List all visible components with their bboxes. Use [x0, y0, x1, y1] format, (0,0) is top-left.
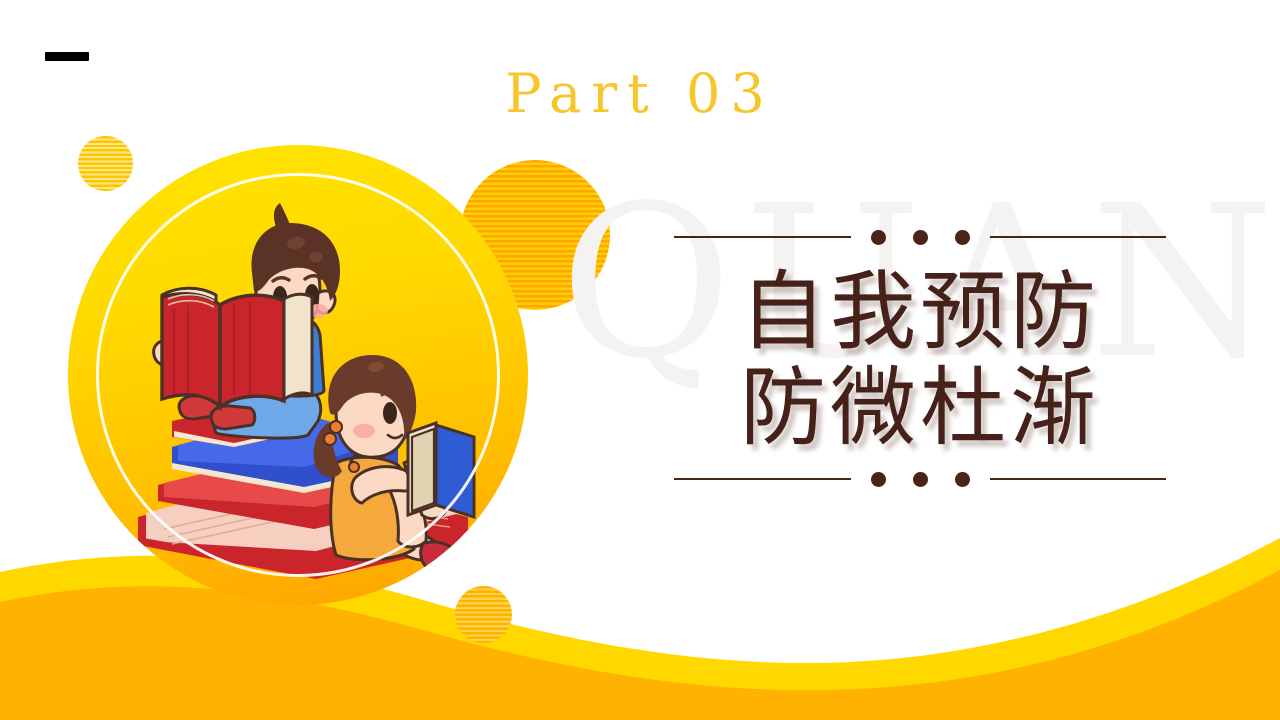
- divider-dot: [955, 230, 970, 245]
- striped-circle-small-icon: [78, 136, 133, 191]
- divider-rule-right: [990, 236, 1167, 238]
- divider-rule-left: [674, 236, 851, 238]
- divider-dot: [871, 472, 886, 487]
- slide-canvas: Part 03 QUAN: [0, 0, 1280, 720]
- striped-circle-wave-icon: [455, 586, 512, 643]
- illustration-circle: [68, 145, 528, 605]
- divider-dots-top: [865, 230, 976, 245]
- title-divider-top: [674, 228, 1166, 246]
- divider-dot: [913, 230, 928, 245]
- divider-dots-bottom: [865, 472, 976, 487]
- divider-dot: [955, 472, 970, 487]
- section-title-line-1: 自我预防: [660, 260, 1180, 364]
- divider-rule-right: [990, 478, 1167, 480]
- divider-dot: [913, 472, 928, 487]
- section-title-line-2: 防微杜渐: [660, 356, 1180, 460]
- corner-dash-mark: [45, 52, 89, 61]
- divider-dot: [871, 230, 886, 245]
- divider-rule-left: [674, 478, 851, 480]
- title-divider-bottom: [674, 470, 1166, 488]
- section-part-label: Part 03: [0, 62, 1280, 125]
- illustration-inner-ring: [96, 173, 500, 577]
- section-title-block: 自我预防 防微杜渐: [660, 228, 1180, 488]
